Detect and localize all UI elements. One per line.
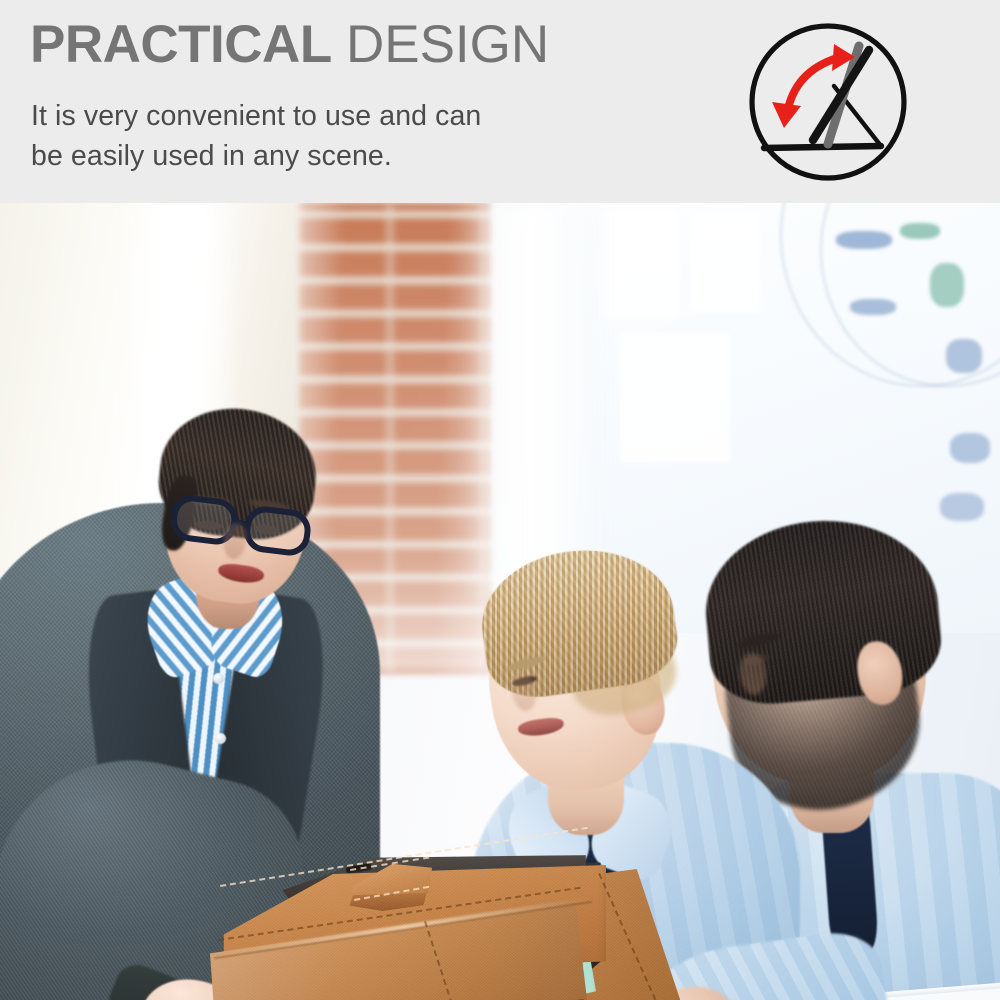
whiteboard-text <box>950 433 990 463</box>
whiteboard-note <box>620 333 730 463</box>
header-banner: PRACTICAL DESIGN It is very convenient t… <box>0 0 1000 203</box>
leather-wallet-phone-case <box>198 843 738 1000</box>
woman-shirt-button <box>215 733 226 744</box>
page-subtitle-line-1: It is very convenient to use and can <box>31 96 641 136</box>
whiteboard-text <box>836 231 892 249</box>
whiteboard-note <box>600 209 680 319</box>
product-feature-poster: PRACTICAL DESIGN It is very convenient t… <box>0 0 1000 1000</box>
page-title-light: DESIGN <box>346 15 549 74</box>
whiteboard-text <box>850 299 896 315</box>
page-subtitle-line-2: be easily used in any scene. <box>31 136 641 176</box>
page-subtitle: It is very convenient to use and can be … <box>31 96 641 177</box>
whiteboard-note <box>690 213 760 313</box>
whiteboard-text <box>930 263 964 307</box>
adjustable-stand-angle-icon <box>742 16 914 188</box>
whiteboard-text <box>946 339 982 373</box>
lifestyle-photo <box>0 203 1000 1000</box>
page-title: PRACTICAL DESIGN <box>30 18 549 71</box>
woman-shirt-button <box>213 673 224 684</box>
whiteboard-text <box>900 223 940 239</box>
page-title-bold: PRACTICAL <box>30 15 332 74</box>
window-light-right <box>470 203 600 603</box>
whiteboard-text <box>940 493 984 521</box>
